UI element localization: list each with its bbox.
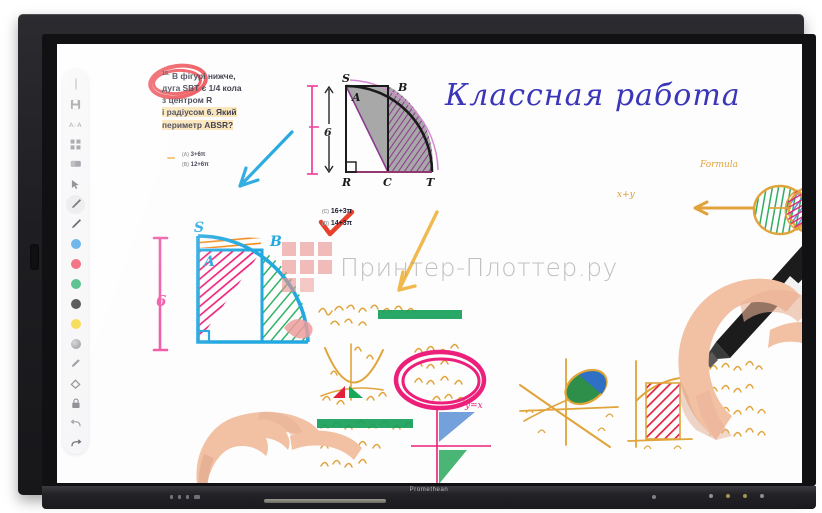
toolbar-item-lock[interactable] [66,394,85,413]
toolbar-color-yellow[interactable] [66,314,85,333]
question-line-1: В фігурі нижче, [172,71,236,81]
blue-arrow-annotation [230,130,300,195]
brand-logo: Promethean [42,487,816,493]
toolbar-item-redo[interactable] [66,434,85,453]
option-c[interactable]: (C) 16+3π [322,206,352,218]
toolbar-item-text[interactable]: A/A [66,115,85,134]
svg-text:C: C [383,176,392,189]
toolbar-color-gradient[interactable] [66,334,85,353]
svg-text:S: S [194,220,204,236]
toolbar-color-red[interactable] [66,255,85,274]
watermark-grid-icon [282,242,332,292]
bezel-indicator-icons [170,495,200,499]
answer-options-right: (C) 16+3π (D) 14+3π [322,206,352,230]
whiteboard-canvas[interactable]: 15. В фігурі нижче, дуга SBT є 1/4 кола … [90,50,802,483]
option-b-text: 12+6π [191,162,209,168]
question-line-5: периметр ABSR? [162,120,233,130]
option-a-text: 3+6π [191,152,206,158]
svg-text:6: 6 [324,126,332,139]
question-number: 15. [162,71,170,77]
question-line-2: дуга SBT є 1/4 кола [162,83,242,93]
svg-text:T: T [426,176,435,189]
hand-holding-pen [620,190,802,440]
geometry-figure: 6 S [302,64,462,194]
bottom-bezel: Promethean [42,486,816,509]
question-line-4: і радіусом 6. Який [162,107,237,117]
toolbar-item-undo[interactable] [66,414,85,433]
toolbar-item-fill[interactable] [66,374,85,393]
orange-dash-annotation [167,157,175,159]
toolbar-item-save[interactable] [66,95,85,114]
bezel-button-3[interactable] [760,494,764,498]
svg-text:R: R [341,176,351,189]
svg-text:S: S [342,72,350,85]
svg-text:A: A [77,121,82,129]
hand-touching-screen [140,340,370,483]
toolbar-color-blue[interactable] [66,235,85,254]
bezel-power-led [652,495,656,499]
option-b[interactable]: (B) 12+6π [182,160,209,170]
svg-text:B: B [269,234,282,250]
screenshot-root: 15. В фігурі нижче, дуга SBT є 1/4 кола … [0,0,822,513]
watermark: Принтер-Плоттер.ру [282,242,618,292]
option-d-text: 14+3π [331,220,352,227]
svg-text:A: A [351,91,361,104]
option-a-marker: (A) [182,152,189,158]
toolbar-item-shapes[interactable] [66,135,85,154]
page-title: Классная работа [445,78,741,113]
toolbar-color-green[interactable] [66,275,85,294]
toolbar-item-marker[interactable] [66,215,85,234]
formula-label: Formula [700,160,738,170]
display-panel: 15. В фігурі нижче, дуга SBT є 1/4 кола … [18,14,804,495]
svg-text:/: / [74,123,76,128]
green-highlight-1 [378,310,462,319]
option-d[interactable]: (D) 14+3π [322,218,352,230]
svg-text:y=x: y=x [464,401,483,411]
question-text: 15. В фігурі нижче, дуга SBT є 1/4 кола … [162,68,287,131]
question-line-3: з центром R [162,95,212,105]
bezel-button-power[interactable] [709,494,713,498]
toolbar-item-handle[interactable] [66,75,85,94]
toolbar-item-highlighter[interactable] [66,354,85,373]
svg-text:A: A [69,121,74,129]
bezel-button-row[interactable] [709,494,764,498]
whiteboard-toolbar[interactable]: A/A [63,69,88,454]
svg-text:A: A [202,254,215,270]
bezel-sensor-bar [264,499,386,503]
bezel-button-1[interactable] [726,494,730,498]
toolbar-item-pen[interactable] [66,195,85,214]
bezel-button-2[interactable] [743,494,747,498]
watermark-text: Принтер-Плоттер.ру [340,253,618,282]
option-c-text: 16+3π [331,208,352,215]
pink-smudge [280,308,320,338]
option-b-marker: (B) [182,162,189,168]
svg-text:B: B [397,81,407,94]
answer-options-left: (A) 3+6π (B) 12+6π [182,150,209,170]
option-a[interactable]: (A) 3+6π [182,150,209,160]
svg-text:6: 6 [156,292,167,310]
toolbar-color-black[interactable] [66,294,85,313]
toolbar-item-eraser[interactable] [66,155,85,174]
toolbar-item-select[interactable] [66,175,85,194]
whiteboard-screen[interactable]: 15. В фігурі нижче, дуга SBT є 1/4 кола … [57,44,802,483]
left-bezel-port [30,244,39,270]
